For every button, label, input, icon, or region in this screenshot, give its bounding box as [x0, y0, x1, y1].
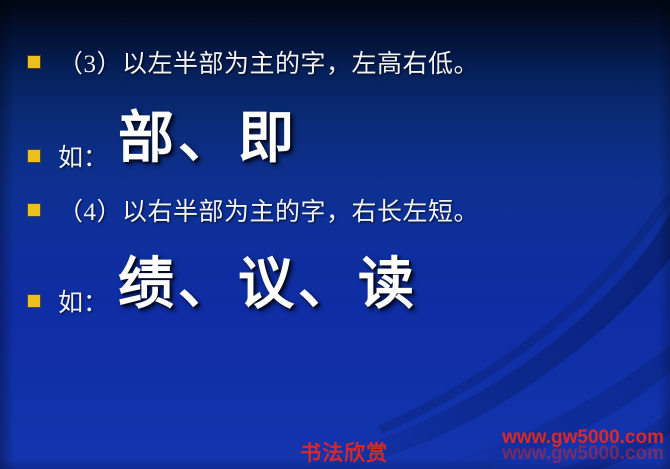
- example-characters-4: 绩、议、读: [118, 257, 418, 313]
- bullet-text-rule-3: （3）以左半部为主的字，左高右低。: [58, 44, 479, 80]
- example-label-4: 如：: [58, 283, 108, 319]
- square-bullet-icon: [28, 204, 40, 216]
- square-bullet-icon: [28, 150, 40, 162]
- bullet-row-1: （3）以左半部为主的字，左高右低。: [28, 44, 479, 80]
- presentation-slide: （3）以左半部为主的字，左高右低。 如： 部、即 （4）以右半部为主的字，右长左…: [0, 0, 670, 469]
- bullet-row-2: 如： 部、即: [28, 128, 298, 184]
- example-label-2: 如：: [58, 138, 108, 174]
- example-characters-2: 部、即: [118, 111, 298, 167]
- square-bullet-icon: [28, 295, 40, 307]
- slide-body: （3）以左半部为主的字，左高右低。 如： 部、即 （4）以右半部为主的字，右长左…: [0, 0, 670, 469]
- bullet-row-4: 如： 绩、议、读: [28, 273, 418, 329]
- bullet-text-rule-4: （4）以右半部为主的字，右长左短。: [58, 192, 479, 228]
- square-bullet-icon: [28, 56, 40, 68]
- bullet-row-3: （4）以右半部为主的字，右长左短。: [28, 192, 479, 228]
